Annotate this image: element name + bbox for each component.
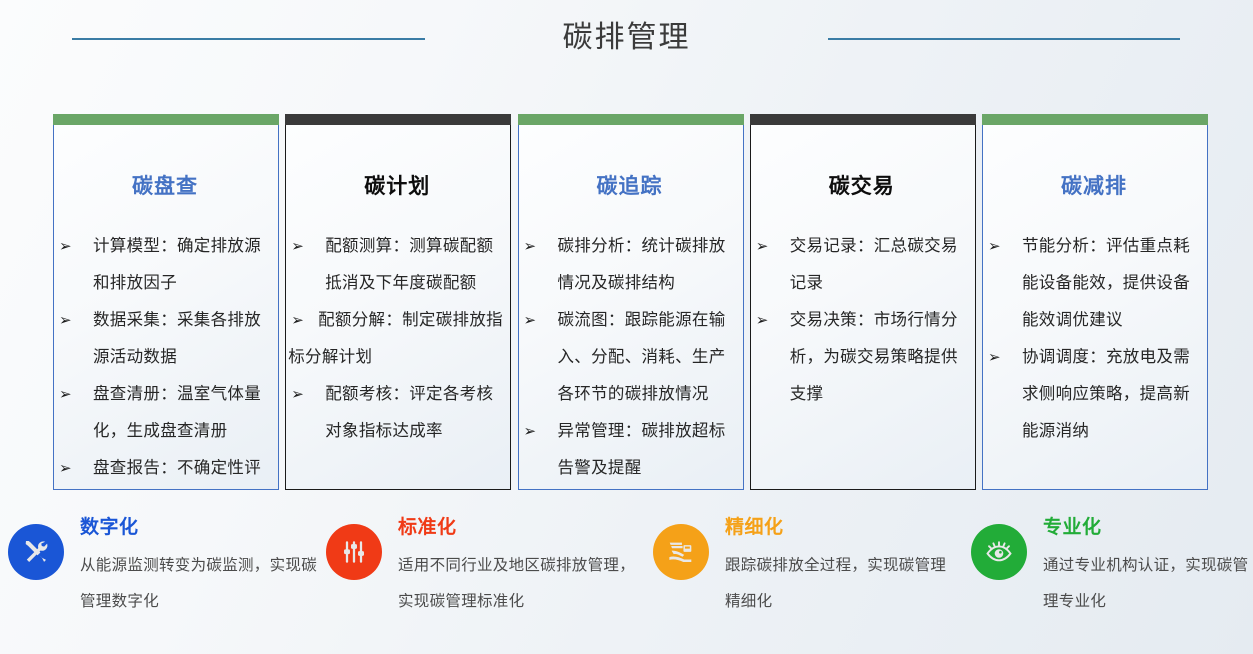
card-bullet-item: ➢盘查清册：温室气体量化，生成盘查清册: [56, 376, 274, 450]
bullet-arrow-icon: ➢: [524, 413, 537, 450]
feature-card[interactable]: 碳减排➢节能分析：评估重点耗能设备能效，提供设备能效调优建议➢协调调度：充放电及…: [982, 114, 1208, 490]
wrench-screwdriver-icon: [8, 524, 64, 580]
page-header: 碳排管理: [0, 0, 1253, 90]
card-bullet-text: 碳流图：跟踪能源在输入、分配、消耗、生产各环节的碳排放情况: [558, 311, 726, 403]
card-bullet-text: 节能分析：评估重点耗能设备能效，提供设备能效调优建议: [1022, 237, 1190, 329]
feature-card[interactable]: 碳追踪➢碳排分析：统计碳排放情况及碳排结构➢碳流图：跟踪能源在输入、分配、消耗、…: [518, 114, 744, 490]
card-title: 碳盘查: [56, 172, 274, 202]
feature-title: 专业化: [1043, 514, 1253, 542]
feature-text-block: 数字化从能源监测转变为碳监测，实现碳管理数字化: [80, 500, 318, 620]
eye-icon: [971, 524, 1027, 580]
card-accent-bar: [53, 114, 279, 125]
card-bullet-list: ➢配额测算：测算碳配额抵消及下年度碳配额➢配额分解：制定碳排放指标分解计划➢配额…: [288, 228, 506, 450]
card-bullet-item: ➢交易决策：市场行情分析，为碳交易策略提供支撑: [753, 302, 971, 413]
bullet-arrow-icon: ➢: [59, 450, 72, 487]
bullet-arrow-icon: ➢: [524, 302, 537, 339]
card-title: 碳交易: [753, 172, 971, 202]
feature-description: 通过专业机构认证，实现碳管理专业化: [1043, 548, 1253, 620]
card-bullet-item: ➢协调调度：充放电及需求侧响应策略，提高新能源消纳: [985, 339, 1203, 450]
feature-card[interactable]: 碳交易➢交易记录：汇总碳交易记录➢交易决策：市场行情分析，为碳交易策略提供支撑: [750, 114, 976, 490]
feature-title: 数字化: [80, 514, 318, 542]
card-accent-bar: [982, 114, 1208, 125]
card-bullet-item: ➢计算模型：确定排放源和排放因子: [56, 228, 274, 302]
card-bullet-item: ➢数据采集：采集各排放源活动数据: [56, 302, 274, 376]
feature-item[interactable]: 标准化适用不同行业及地区碳排放管理，实现碳管理标准化: [318, 500, 643, 654]
card-bullet-item: ➢节能分析：评估重点耗能设备能效，提供设备能效调优建议: [985, 228, 1203, 339]
card-bullet-text: 协调调度：充放电及需求侧响应策略，提高新能源消纳: [1022, 348, 1190, 440]
card-bullet-item: ➢配额考核：评定各考核对象指标达成率: [288, 376, 506, 450]
bullet-arrow-icon: ➢: [756, 302, 769, 339]
bullet-arrow-icon: ➢: [291, 228, 304, 265]
card-body: 碳减排➢节能分析：评估重点耗能设备能效，提供设备能效调优建议➢协调调度：充放电及…: [982, 125, 1208, 490]
bullet-arrow-icon: ➢: [59, 302, 72, 339]
feature-description: 从能源监测转变为碳监测，实现碳管理数字化: [80, 548, 318, 620]
card-bullet-list: ➢节能分析：评估重点耗能设备能效，提供设备能效调优建议➢协调调度：充放电及需求侧…: [985, 228, 1203, 450]
card-body: 碳计划➢配额测算：测算碳配额抵消及下年度碳配额➢配额分解：制定碳排放指标分解计划…: [285, 125, 511, 490]
feature-card[interactable]: 碳盘查➢计算模型：确定排放源和排放因子➢数据采集：采集各排放源活动数据➢盘查清册…: [53, 114, 279, 490]
card-bullet-text: 交易记录：汇总碳交易记录: [790, 237, 958, 292]
feature-item[interactable]: 精细化跟踪碳排放全过程，实现碳管理精细化: [643, 500, 961, 654]
feature-item[interactable]: 数字化从能源监测转变为碳监测，实现碳管理数字化: [0, 500, 318, 654]
feature-text-block: 标准化适用不同行业及地区碳排放管理，实现碳管理标准化: [398, 500, 643, 620]
card-bullet-item: ➢碳排分析：统计碳排放情况及碳排结构: [521, 228, 739, 302]
sliders-icon: [326, 524, 382, 580]
card-bullet-text: 异常管理：碳排放超标告警及提醒: [558, 422, 726, 477]
bullet-arrow-icon: ➢: [288, 312, 304, 329]
bullet-arrow-icon: ➢: [988, 228, 1001, 265]
card-bullet-text: 数据采集：采集各排放源活动数据: [93, 311, 261, 366]
card-bullet-text: 碳排分析：统计碳排放情况及碳排结构: [558, 237, 726, 292]
card-bullet-item: ➢盘查报告：不确定性评估，生成碳盘查报告: [56, 450, 274, 490]
card-body: 碳追踪➢碳排分析：统计碳排放情况及碳排结构➢碳流图：跟踪能源在输入、分配、消耗、…: [518, 125, 744, 490]
feature-item[interactable]: 专业化通过专业机构认证，实现碳管理专业化: [961, 500, 1253, 654]
card-body: 碳交易➢交易记录：汇总碳交易记录➢交易决策：市场行情分析，为碳交易策略提供支撑: [750, 125, 976, 490]
card-bullet-text: 盘查清册：温室气体量化，生成盘查清册: [93, 385, 261, 440]
bullet-arrow-icon: ➢: [59, 228, 72, 265]
page-title: 碳排管理: [0, 16, 1253, 60]
feature-title: 精细化: [725, 514, 961, 542]
card-bullet-list: ➢碳排分析：统计碳排放情况及碳排结构➢碳流图：跟踪能源在输入、分配、消耗、生产各…: [521, 228, 739, 487]
bullet-arrow-icon: ➢: [524, 228, 537, 265]
card-bullet-item: ➢配额测算：测算碳配额抵消及下年度碳配额: [288, 228, 506, 302]
card-title: 碳减排: [985, 172, 1203, 202]
feature-description: 适用不同行业及地区碳排放管理，实现碳管理标准化: [398, 548, 642, 620]
card-bullet-text: 交易决策：市场行情分析，为碳交易策略提供支撑: [790, 311, 958, 403]
bullet-arrow-icon: ➢: [291, 376, 304, 413]
feature-title: 标准化: [398, 514, 643, 542]
feature-text-block: 精细化跟踪碳排放全过程，实现碳管理精细化: [725, 500, 961, 620]
card-bullet-text: 配额考核：评定各考核对象指标达成率: [325, 385, 493, 440]
card-bullet-text: 配额分解：制定碳排放指标分解计划: [288, 311, 503, 366]
feature-card[interactable]: 碳计划➢配额测算：测算碳配额抵消及下年度碳配额➢配额分解：制定碳排放指标分解计划…: [285, 114, 511, 490]
bullet-arrow-icon: ➢: [988, 339, 1001, 376]
card-bullet-text: 配额测算：测算碳配额抵消及下年度碳配额: [325, 237, 493, 292]
document-hand-icon: [653, 524, 709, 580]
feature-text-block: 专业化通过专业机构认证，实现碳管理专业化: [1043, 500, 1253, 620]
card-bullet-text: 计算模型：确定排放源和排放因子: [93, 237, 261, 292]
card-body: 碳盘查➢计算模型：确定排放源和排放因子➢数据采集：采集各排放源活动数据➢盘查清册…: [53, 125, 279, 490]
card-accent-bar: [518, 114, 744, 125]
card-bullet-list: ➢计算模型：确定排放源和排放因子➢数据采集：采集各排放源活动数据➢盘查清册：温室…: [56, 228, 274, 490]
card-title: 碳计划: [288, 172, 506, 202]
card-bullet-list: ➢交易记录：汇总碳交易记录➢交易决策：市场行情分析，为碳交易策略提供支撑: [753, 228, 971, 413]
bullet-arrow-icon: ➢: [756, 228, 769, 265]
card-accent-bar: [285, 114, 511, 125]
card-bullet-item: ➢异常管理：碳排放超标告警及提醒: [521, 413, 739, 487]
feature-row: 数字化从能源监测转变为碳监测，实现碳管理数字化标准化适用不同行业及地区碳排放管理…: [0, 500, 1253, 654]
bullet-arrow-icon: ➢: [59, 376, 72, 413]
card-accent-bar: [750, 114, 976, 125]
card-bullet-item: ➢配额分解：制定碳排放指标分解计划: [288, 302, 506, 376]
card-bullet-item: ➢碳流图：跟踪能源在输入、分配、消耗、生产各环节的碳排放情况: [521, 302, 739, 413]
card-row: 碳盘查➢计算模型：确定排放源和排放因子➢数据采集：采集各排放源活动数据➢盘查清册…: [53, 114, 1208, 490]
feature-description: 跟踪碳排放全过程，实现碳管理精细化: [725, 548, 957, 620]
card-title: 碳追踪: [521, 172, 739, 202]
card-bullet-text: 盘查报告：不确定性评估，生成碳盘查报告: [93, 459, 261, 490]
card-bullet-item: ➢交易记录：汇总碳交易记录: [753, 228, 971, 302]
